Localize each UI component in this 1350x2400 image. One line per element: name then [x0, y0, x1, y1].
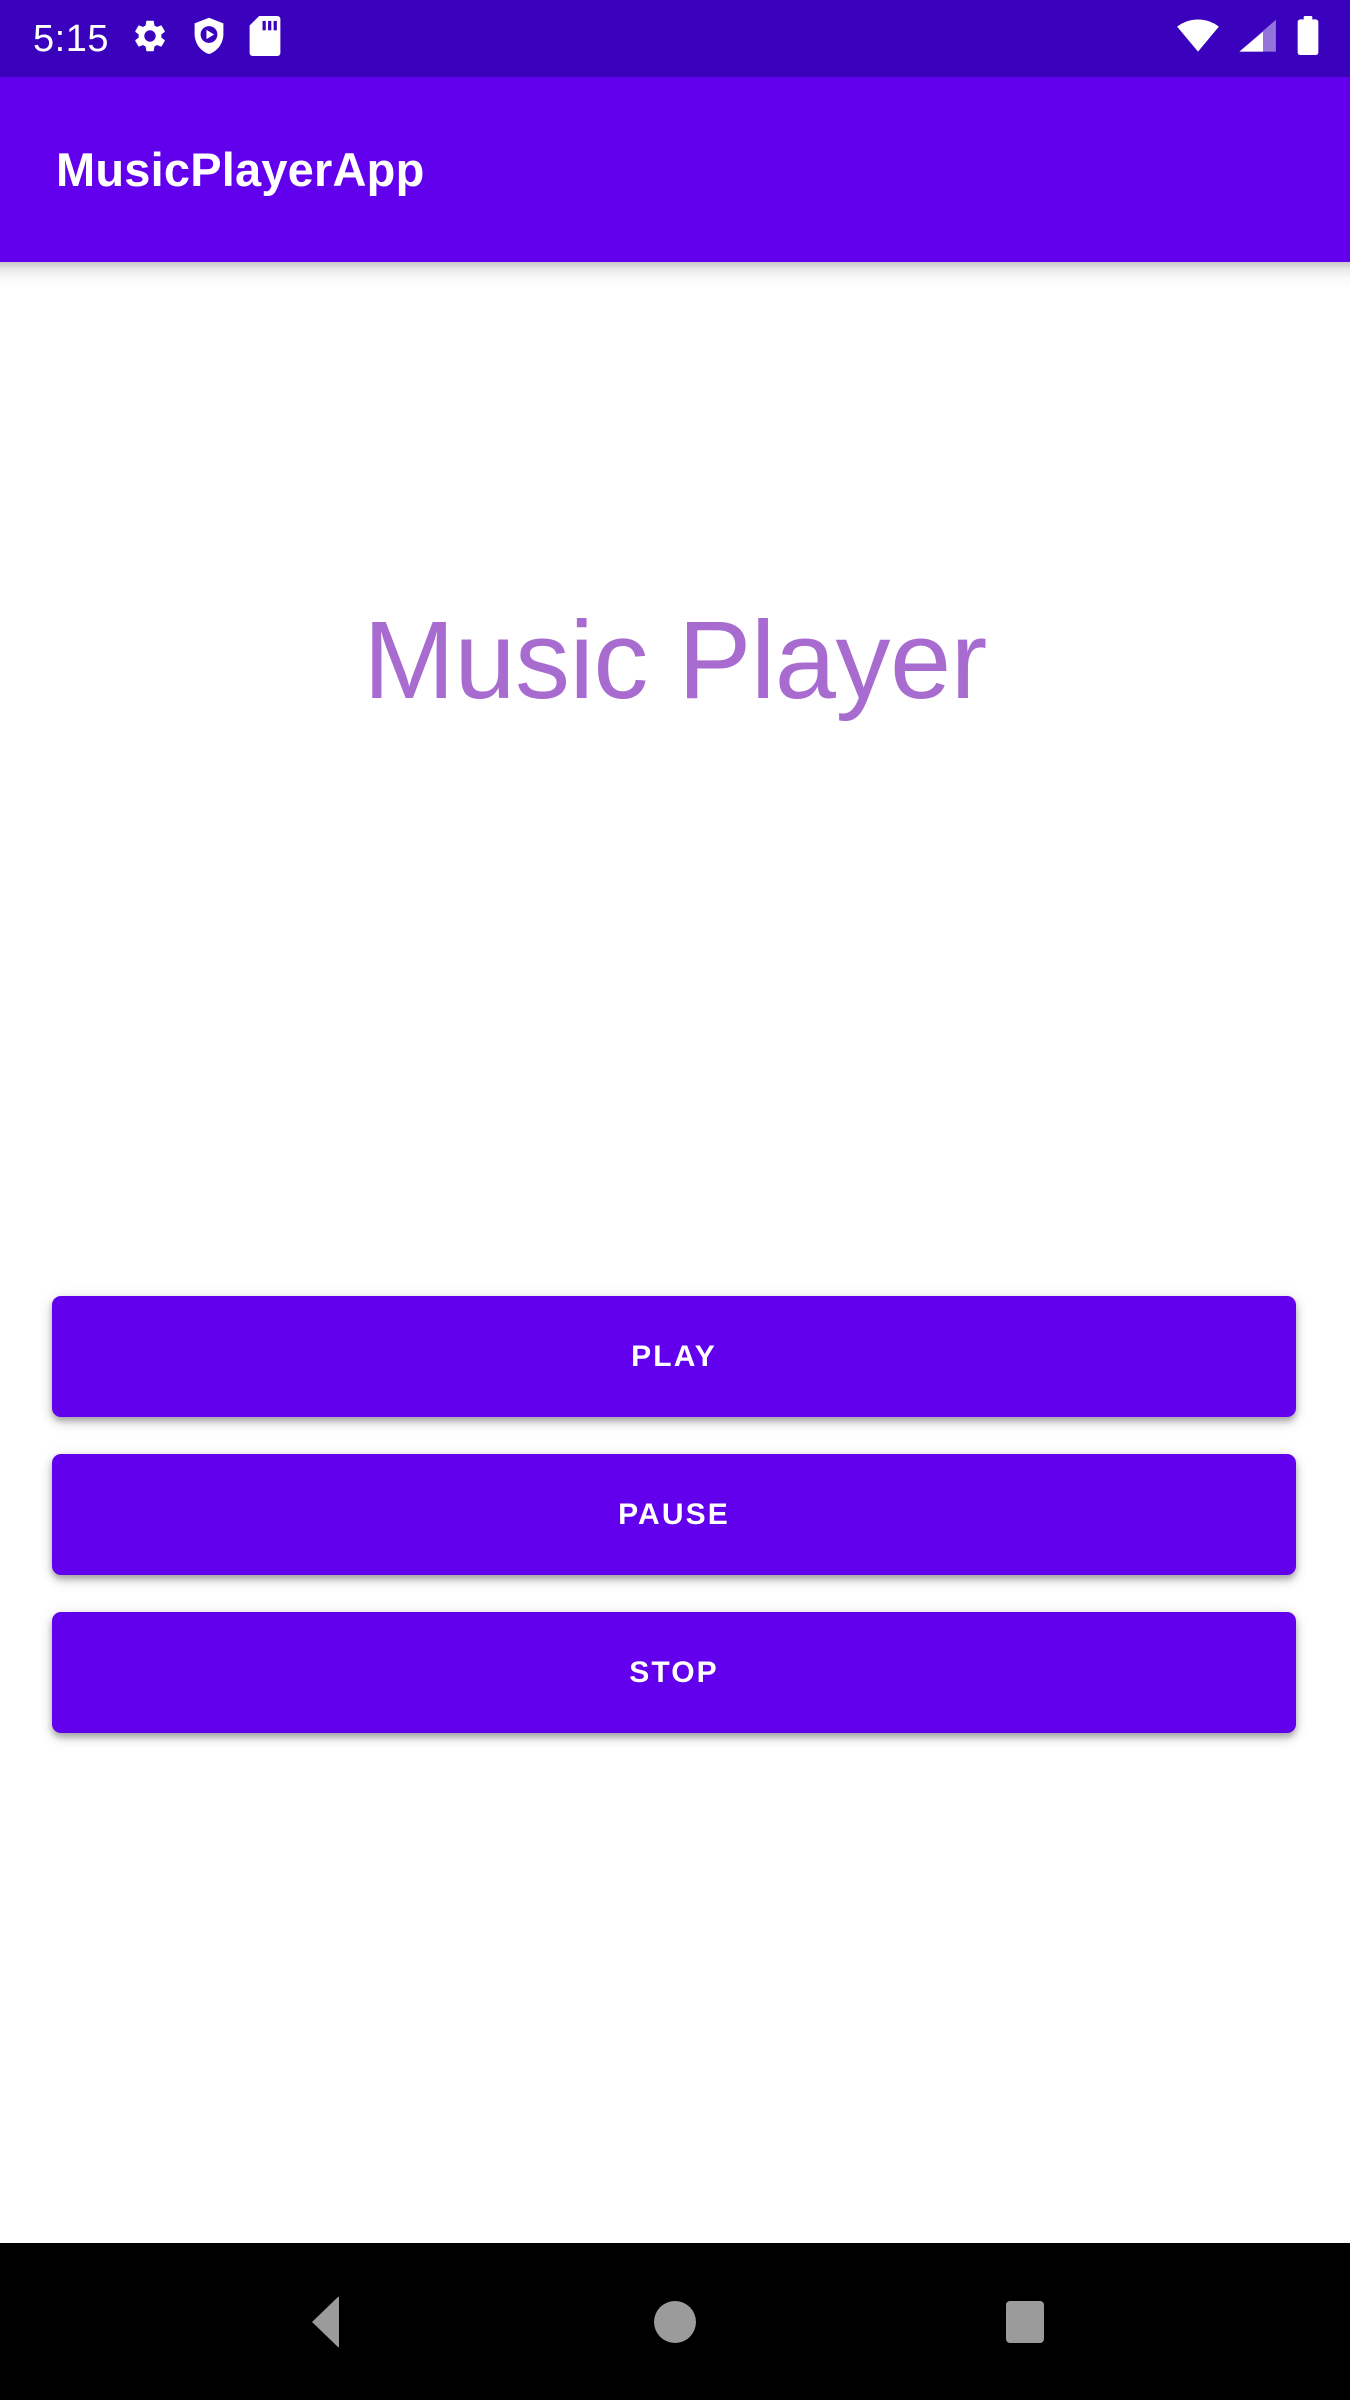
android-navigation-bar — [0, 2243, 1350, 2400]
page-title: Music Player — [0, 603, 1350, 719]
pause-button[interactable]: PAUSE — [52, 1454, 1296, 1575]
status-bar-left-group: 5:15 — [33, 16, 281, 61]
nav-recents-button[interactable] — [950, 2267, 1100, 2377]
wifi-icon — [1176, 19, 1220, 58]
nav-home-button[interactable] — [600, 2267, 750, 2377]
cellular-signal-icon — [1238, 19, 1278, 58]
player-controls: PLAY PAUSE STOP — [52, 1296, 1296, 1733]
phone-screen: 5:15 — [0, 0, 1350, 2400]
app-bar-title: MusicPlayerApp — [56, 142, 424, 197]
stop-button[interactable]: STOP — [52, 1612, 1296, 1733]
app-bar: MusicPlayerApp — [0, 77, 1350, 262]
recents-square-icon — [1006, 2301, 1044, 2343]
sd-card-icon — [249, 16, 281, 61]
main-content: Music Player PLAY PAUSE STOP — [0, 262, 1350, 2243]
nav-back-button[interactable] — [250, 2267, 400, 2377]
status-bar-right-group — [1176, 16, 1320, 61]
status-bar-clock: 5:15 — [33, 20, 109, 58]
battery-icon — [1296, 16, 1320, 61]
home-circle-icon — [654, 2301, 696, 2343]
play-button[interactable]: PLAY — [52, 1296, 1296, 1417]
status-bar: 5:15 — [0, 0, 1350, 77]
settings-gear-icon — [131, 17, 169, 60]
back-triangle-icon — [312, 2296, 339, 2348]
play-protect-shield-icon — [191, 16, 227, 61]
